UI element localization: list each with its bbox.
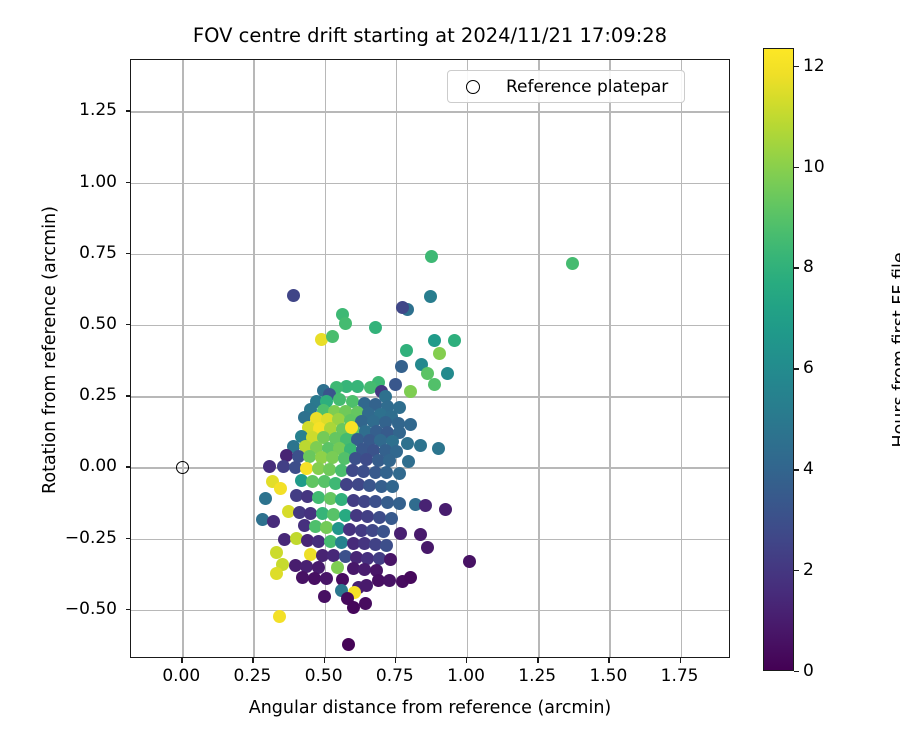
scatter-point — [414, 439, 427, 452]
scatter-point — [369, 321, 382, 334]
y-axis-tick-label: −0.50 — [0, 599, 117, 619]
scatter-point — [421, 541, 434, 554]
y-axis-label: Rotation from reference (arcmin) — [40, 50, 60, 650]
x-axis-tick — [324, 658, 325, 663]
gridline-vertical — [538, 60, 539, 657]
colorbar-tick-label: 10 — [803, 157, 825, 177]
scatter-point — [339, 317, 352, 330]
scatter-point — [259, 492, 272, 505]
x-axis-tick-label: 0.75 — [360, 666, 430, 686]
scatter-point — [278, 533, 291, 546]
scatter-point — [441, 367, 454, 380]
colorbar-tick — [794, 469, 799, 470]
scatter-point — [400, 344, 413, 357]
y-axis-tick — [126, 466, 131, 467]
x-axis-tick — [395, 658, 396, 663]
scatter-point — [394, 527, 407, 540]
x-axis-tick-label: 1.00 — [431, 666, 501, 686]
scatter-point — [448, 334, 461, 347]
scatter-point — [386, 480, 399, 493]
x-axis-tick-label: 0.50 — [289, 666, 359, 686]
x-axis-tick — [181, 658, 182, 663]
y-axis-tick — [126, 538, 131, 539]
scatter-point — [428, 378, 441, 391]
scatter-point — [381, 496, 394, 509]
colorbar-tick — [794, 570, 799, 571]
gridline-horizontal — [131, 396, 729, 397]
scatter-point — [380, 539, 393, 552]
x-axis-tick — [466, 658, 467, 663]
scatter-point — [277, 460, 290, 473]
colorbar-tick-label: 0 — [803, 661, 814, 681]
y-axis-tick — [126, 395, 131, 396]
y-axis-tick-label: −0.25 — [0, 528, 117, 548]
scatter-point — [439, 503, 452, 516]
figure: FOV centre drift starting at 2024/11/21 … — [0, 0, 900, 750]
scatter-point — [463, 555, 476, 568]
scatter-point — [326, 330, 339, 343]
x-axis-tick-label: 1.50 — [573, 666, 643, 686]
gridline-horizontal — [131, 539, 729, 540]
reference-platepar-point — [176, 461, 189, 474]
legend[interactable]: Reference platepar — [447, 70, 685, 103]
scatter-point — [402, 455, 415, 468]
y-axis-tick-label: 0.50 — [0, 314, 117, 334]
scatter-point — [318, 590, 331, 603]
gridline-vertical — [609, 60, 610, 657]
gridline-horizontal — [131, 325, 729, 326]
x-axis-tick-label: 0.25 — [217, 666, 287, 686]
x-axis-tick — [680, 658, 681, 663]
y-axis-tick-label: 0.75 — [0, 243, 117, 263]
colorbar-tick-label: 12 — [803, 56, 825, 76]
scatter-point — [373, 511, 386, 524]
gridline-horizontal — [131, 111, 729, 112]
y-axis-tick — [126, 609, 131, 610]
scatter-point — [274, 482, 287, 495]
scatter-point — [270, 567, 283, 580]
scatter-point — [566, 257, 579, 270]
y-axis-tick — [126, 253, 131, 254]
scatter-point — [395, 360, 408, 373]
scatter-point — [385, 512, 398, 525]
colorbar-tick — [794, 267, 799, 268]
y-axis-tick — [126, 324, 131, 325]
colorbar-tick — [794, 368, 799, 369]
colorbar-tick-label: 8 — [803, 257, 814, 277]
y-axis-tick — [126, 182, 131, 183]
colorbar[interactable]: 024681012 — [763, 48, 794, 671]
gridline-vertical — [681, 60, 682, 657]
reference-platepar-marker-icon — [466, 80, 480, 94]
scatter-point — [404, 418, 417, 431]
y-axis-tick-label: 0.00 — [0, 456, 117, 476]
scatter-point — [433, 347, 446, 360]
scatter-point — [383, 574, 396, 587]
colorbar-gradient — [763, 48, 794, 671]
scatter-point — [342, 638, 355, 651]
colorbar-tick — [794, 66, 799, 67]
colorbar-tick — [794, 671, 799, 672]
scatter-plot-axes[interactable] — [130, 59, 730, 658]
scatter-point — [404, 385, 417, 398]
scatter-point — [347, 601, 360, 614]
gridline-vertical — [253, 60, 254, 657]
legend-entry-label: Reference platepar — [506, 77, 674, 97]
y-axis-tick-label: 1.25 — [0, 100, 117, 120]
x-axis-tick — [608, 658, 609, 663]
scatter-point — [393, 497, 406, 510]
scatter-point — [273, 610, 286, 623]
scatter-point — [424, 290, 437, 303]
gridline-vertical — [396, 60, 397, 657]
scatter-point — [428, 334, 441, 347]
x-axis-tick — [537, 658, 538, 663]
scatter-point — [360, 579, 373, 592]
scatter-point — [380, 466, 393, 479]
x-axis-tick-label: 1.75 — [645, 666, 715, 686]
y-axis-tick-label: 0.25 — [0, 385, 117, 405]
scatter-point — [296, 571, 309, 584]
colorbar-tick-label: 2 — [803, 560, 814, 580]
colorbar-tick — [794, 167, 799, 168]
x-axis-tick-label: 0.00 — [146, 666, 216, 686]
colorbar-tick-label: 6 — [803, 358, 814, 378]
scatter-point — [304, 548, 317, 561]
scatter-point — [320, 572, 333, 585]
x-axis-tick — [252, 658, 253, 663]
page-title: FOV centre drift starting at 2024/11/21 … — [130, 24, 730, 48]
scatter-point — [377, 525, 390, 538]
scatter-point — [359, 597, 372, 610]
y-axis-tick — [126, 110, 131, 111]
scatter-point — [308, 572, 321, 585]
gridline-horizontal — [131, 610, 729, 611]
scatter-point — [384, 553, 397, 566]
scatter-point — [267, 515, 280, 528]
colorbar-label: Hours from first FF file — [890, 50, 900, 650]
scatter-point — [419, 499, 432, 512]
x-axis-tick-label: 1.25 — [502, 666, 572, 686]
scatter-point — [393, 467, 406, 480]
scatter-point — [404, 571, 417, 584]
scatter-point — [401, 437, 414, 450]
gridline-horizontal — [131, 183, 729, 184]
scatter-point — [432, 442, 445, 455]
scatter-point — [263, 460, 276, 473]
gridline-horizontal — [131, 467, 729, 468]
scatter-point — [425, 250, 438, 263]
x-axis-label: Angular distance from reference (arcmin) — [130, 698, 730, 718]
colorbar-tick-label: 4 — [803, 459, 814, 479]
scatter-point — [287, 289, 300, 302]
y-axis-tick-label: 1.00 — [0, 172, 117, 192]
scatter-point — [389, 378, 402, 391]
gridline-vertical — [182, 60, 183, 657]
